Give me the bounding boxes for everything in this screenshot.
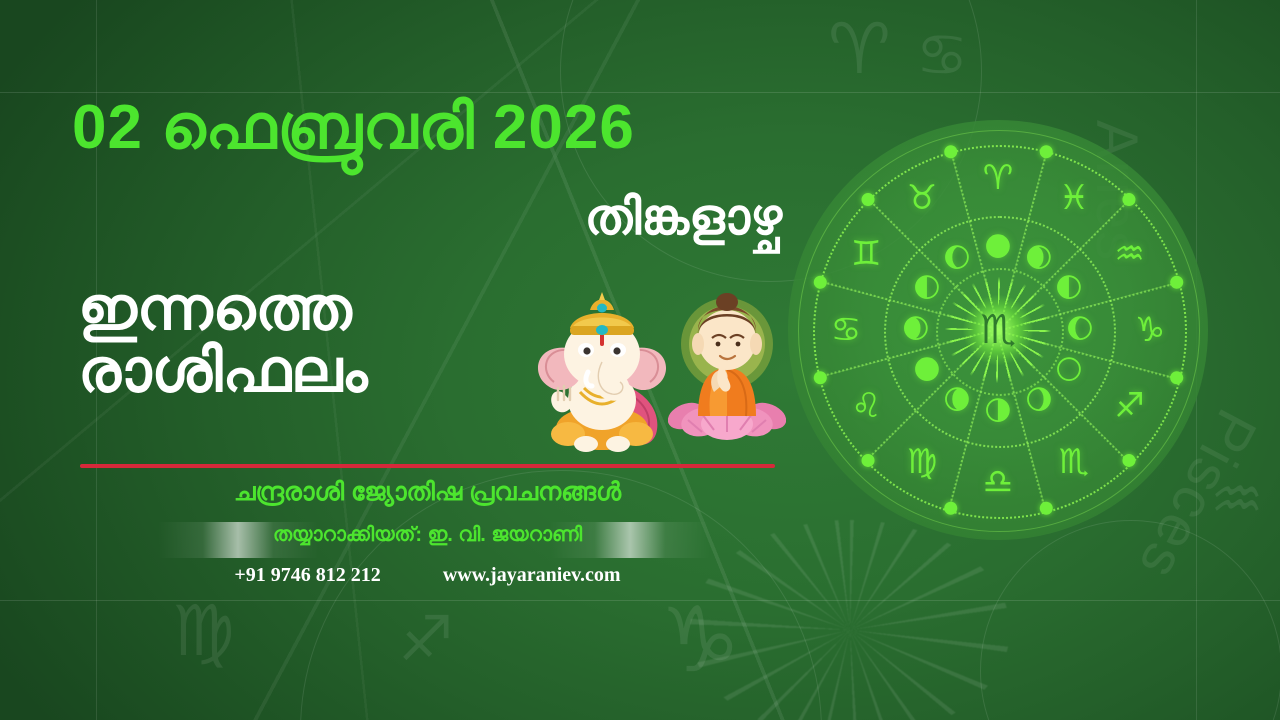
- zodiac-sign-leo-icon: ♌: [843, 383, 889, 429]
- background-glyph-aries: ♈: [828, 14, 891, 84]
- moon-phase-new-moon-2-icon: 🌑: [910, 354, 944, 388]
- background-glyph-sagittarius: ♐: [398, 608, 454, 670]
- date-heading: 02 ഫെബ്രുവരി 2026: [72, 92, 872, 164]
- weekday-heading: തിങ്കളാഴ്ച: [72, 188, 782, 247]
- moon-phase-first-quarter-2-icon: 🌓: [910, 272, 944, 306]
- buddha-illustration: [668, 288, 786, 453]
- moon-phase-full-moon-icon: 🌕: [1052, 354, 1086, 388]
- moon-phase-last-quarter-icon: 🌗: [981, 395, 1015, 429]
- red-divider: [80, 464, 775, 468]
- zodiac-sign-libra-icon: ♎: [975, 459, 1021, 505]
- moon-phase-waxing-crescent-icon: 🌒: [1022, 242, 1056, 276]
- moon-phase-new-moon-icon: 🌑: [981, 231, 1015, 265]
- zodiac-sign-sagittarius-icon: ♐: [1107, 383, 1153, 429]
- zodiac-sign-gemini-icon: ♊: [843, 231, 889, 277]
- background-glyph-capricorn: ♑: [660, 596, 741, 686]
- zodiac-sign-virgo-icon: ♍: [899, 439, 945, 485]
- moon-phase-waxing-gibbous-2-icon: 🌔: [940, 242, 974, 276]
- author-row: തയ്യാറാക്കിയത്: ഇ. വി. ജയറാണി: [80, 522, 775, 558]
- moon-phase-first-quarter-icon: 🌓: [1052, 272, 1086, 306]
- zodiac-sign-aries-icon: ♈: [975, 155, 1021, 201]
- zodiac-wheel: ♈♓♒♑♐♏♎♍♌♋♊♉ 🌑🌒🌓🌔🌕🌖🌗🌘🌑🌒🌓🌔 ♏: [788, 120, 1208, 540]
- zodiac-sign-cancer-icon: ♋: [823, 307, 869, 353]
- author-credit: തയ്യാറാക്കിയത്: ഇ. വി. ജയറാണി: [80, 524, 775, 547]
- moon-phase-waxing-crescent-2-icon: 🌒: [899, 313, 933, 347]
- wheel-center-sun: ♏: [963, 295, 1033, 365]
- zodiac-sign-capricorn-icon: ♑: [1127, 307, 1173, 353]
- contact-row: +91 9746 812 212 www.jayaraniev.com: [80, 564, 775, 587]
- zodiac-sign-scorpio-icon: ♏: [1051, 439, 1097, 485]
- website-url[interactable]: www.jayaraniev.com: [443, 564, 621, 587]
- moon-phase-waning-gibbous-icon: 🌖: [1022, 384, 1056, 418]
- subtitle: ചന്ദ്രരാശി ജ്യോതിഷ പ്രവചനങ്ങൾ: [80, 478, 775, 507]
- center-zodiac-glyph: ♏: [963, 295, 1033, 365]
- page-title-line-2: രാശിഫലം: [78, 340, 558, 402]
- background-circle: [300, 470, 822, 720]
- horoscope-poster: ♈ ♋ ♑ ♍ ♐ ♒ Aries Pisces ♈♓♒♑♐♏♎♍♌♋♊♉ 🌑🌒…: [0, 0, 1280, 720]
- moon-phase-waning-crescent-icon: 🌘: [940, 384, 974, 418]
- zodiac-sign-pisces-icon: ♓: [1051, 175, 1097, 221]
- background-glyph-virgo: ♍: [172, 596, 235, 666]
- phone-number[interactable]: +91 9746 812 212: [234, 564, 380, 587]
- moon-phase-waxing-gibbous-icon: 🌔: [1063, 313, 1097, 347]
- zodiac-sign-aquarius-icon: ♒: [1107, 231, 1153, 277]
- page-title-line-1: ഇന്നത്തെ: [78, 278, 558, 340]
- page-title: ഇന്നത്തെ രാശിഫലം: [78, 278, 558, 403]
- background-glyph-cancer: ♋: [916, 26, 968, 84]
- zodiac-sign-taurus-icon: ♉: [899, 175, 945, 221]
